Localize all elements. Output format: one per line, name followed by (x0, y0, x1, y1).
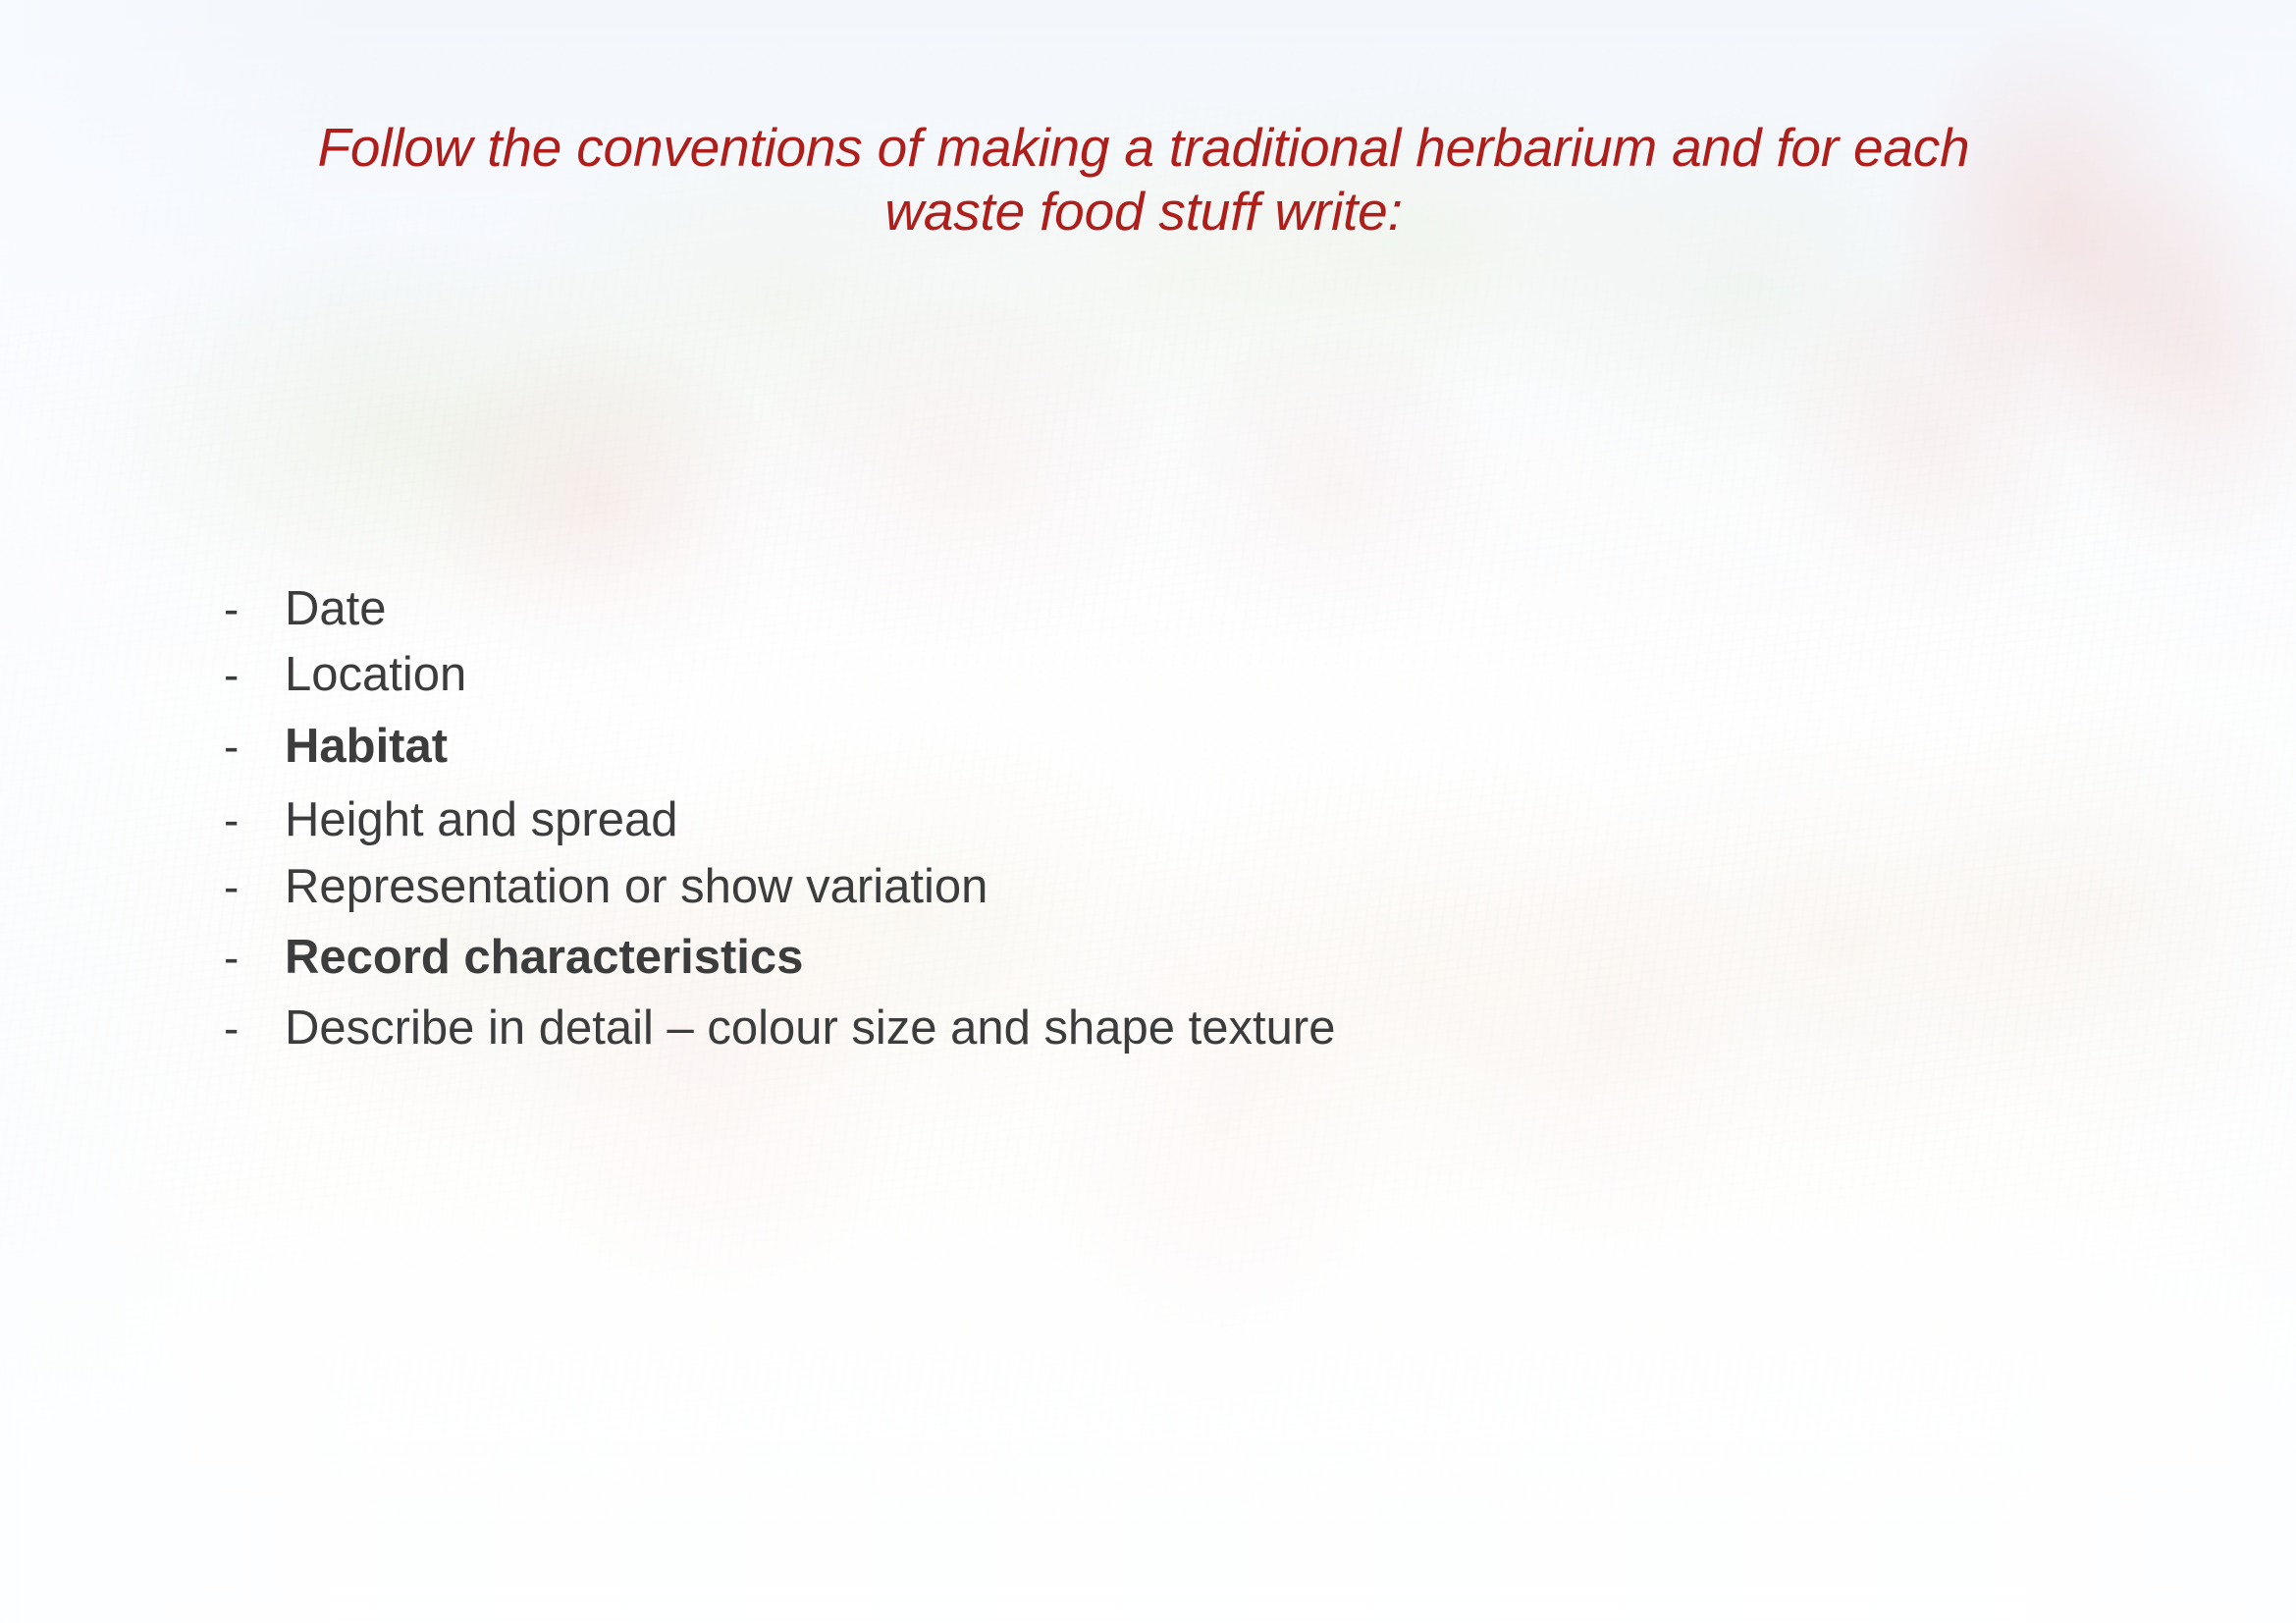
bullet-dash-icon: - (224, 1005, 285, 1051)
bullet-dash-icon: - (224, 797, 285, 842)
bullet-dash-icon: - (224, 652, 285, 697)
list-item-record-characteristics: - Record characteristics (224, 934, 1893, 982)
bullet-dash-icon: - (224, 935, 285, 980)
page-title-line-1: Follow the conventions of making a tradi… (206, 116, 2081, 180)
list-item-label: Describe in detail – colour size and sha… (285, 1004, 1893, 1053)
herbarium-checklist: - Date - Location - Habitat - Height and… (224, 585, 1893, 1053)
slide-canvas: Follow the conventions of making a tradi… (0, 0, 2296, 1623)
bullet-dash-icon: - (224, 586, 285, 631)
bullet-dash-icon: - (224, 724, 285, 769)
list-item-date: - Date (224, 585, 1893, 633)
list-item-habitat: - Habitat (224, 723, 1893, 771)
list-item-label: Habitat (285, 723, 1893, 771)
list-item-label: Record characteristics (285, 934, 1893, 982)
list-item-label: Date (285, 585, 1893, 633)
slide-content: Follow the conventions of making a tradi… (0, 0, 2296, 1623)
bullet-dash-icon: - (224, 864, 285, 909)
list-item-label: Location (285, 651, 1893, 699)
list-item-label: Height and spread (285, 796, 1893, 844)
list-item-height-and-spread: - Height and spread (224, 796, 1893, 844)
page-title-line-2: waste food stuff write: (206, 180, 2081, 243)
list-item-label: Representation or show variation (285, 863, 1893, 911)
list-item-describe-in-detail: - Describe in detail – colour size and s… (224, 1004, 1893, 1053)
list-item-location: - Location (224, 651, 1893, 699)
list-item-representation: - Representation or show variation (224, 863, 1893, 911)
page-title: Follow the conventions of making a tradi… (206, 116, 2081, 243)
